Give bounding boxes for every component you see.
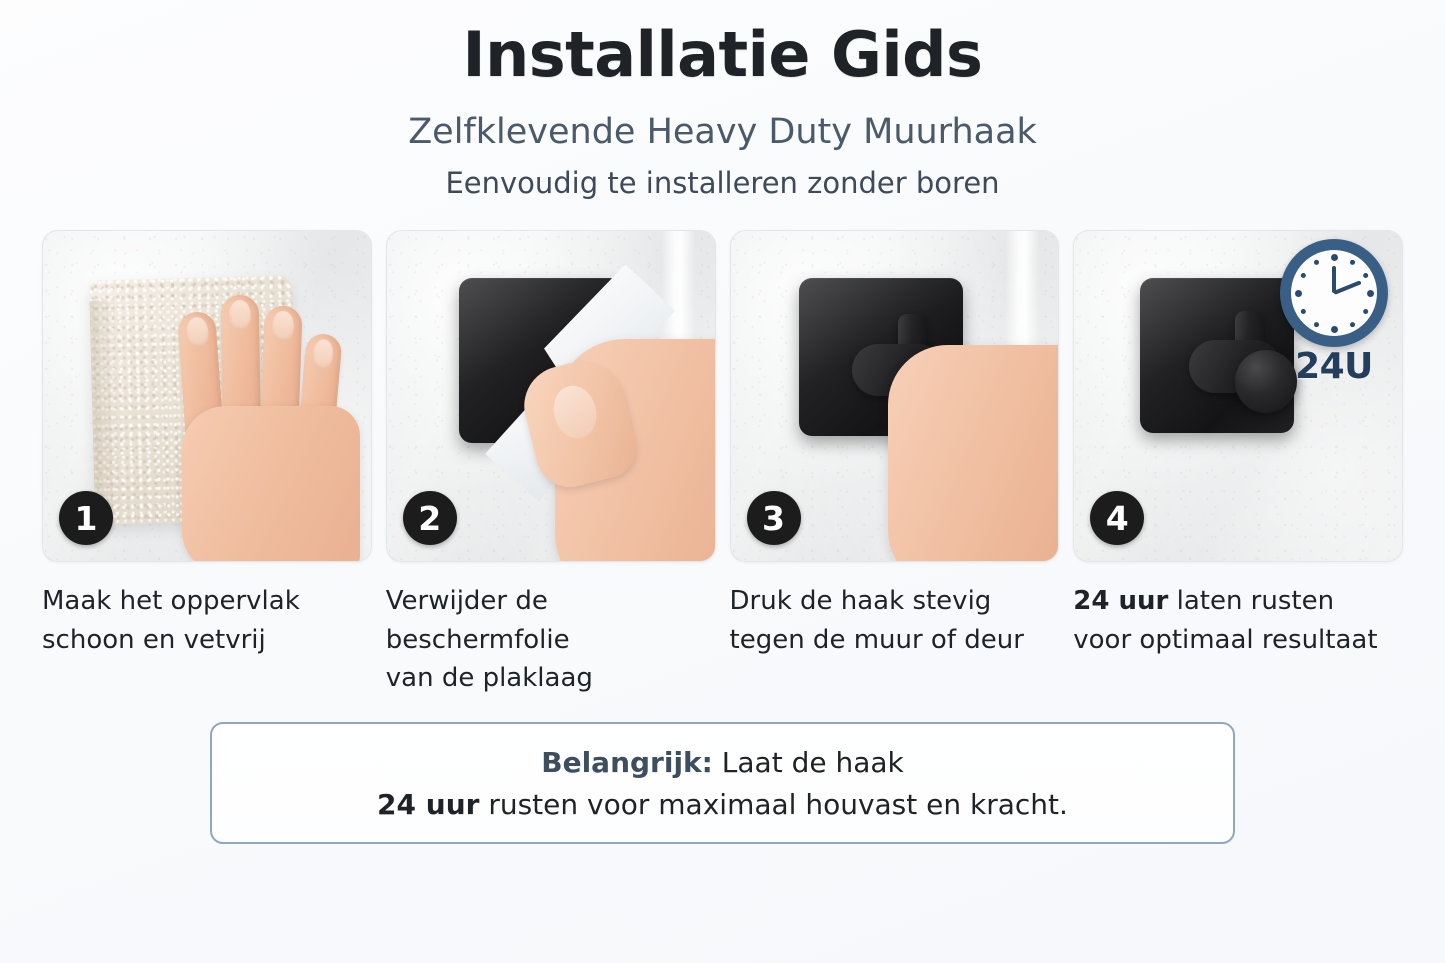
clock-minute-hand [1333,281,1361,296]
step-4: 24U 4 24 uur laten rusten voor optimaal … [1073,230,1403,659]
step-3-photo: 3 [730,230,1060,562]
page-header: Installatie Gids Zelfklevende Heavy Duty… [0,0,1445,200]
step-4-photo: 24U 4 [1073,230,1403,562]
clock-icon [1280,239,1388,347]
thumbnail [548,381,601,443]
note-duration: 24 uur [377,788,479,821]
hand-peeling-film [524,284,715,562]
fingernail [229,300,251,330]
page-subtitle: Zelfklevende Heavy Duty Muurhaak [0,113,1445,152]
steps-grid: 1 Maak het oppervlak schoon en vetvrij 2… [0,230,1445,697]
step-1: 1 Maak het oppervlak schoon en vetvrij [42,230,372,659]
note-line-2: 24 uur rusten voor maximaal houvast en k… [377,787,1068,822]
fingernail [271,311,293,342]
clock-face [1291,250,1377,336]
step-1-photo: 1 [42,230,372,562]
clock-badge: 24U [1272,239,1396,385]
note-label: Belangrijk: [541,746,713,779]
step-2-photo: 2 [386,230,716,562]
caption-line: Verwijder de [386,582,710,620]
hand-pressing-hook [868,264,1059,562]
caption-rest: laten rusten [1168,586,1334,616]
palm [888,345,1059,562]
caption-line: Druk de haak stevig [730,582,1054,620]
step-3: 3 Druk de haak stevig tegen de muur of d… [730,230,1060,659]
hand-wiping [174,284,364,561]
step-number-badge: 2 [403,491,457,545]
important-note-box: Belangrijk: Laat de haak 24 uur rusten v… [210,722,1235,844]
caption-line: tegen de muur of deur [730,621,1054,659]
caption-emphasis: 24 uur [1073,586,1168,616]
note-text: rusten voor maximaal houvast en kracht. [479,788,1068,821]
note-line-1: Belangrijk: Laat de haak [541,745,904,780]
caption-line: voor optimaal resultaat [1073,621,1397,659]
step-number-badge: 1 [59,491,113,545]
step-4-caption: 24 uur laten rusten voor optimaal result… [1073,582,1403,659]
clock-badge-label: 24U [1272,349,1396,385]
step-1-caption: Maak het oppervlak schoon en vetvrij [42,582,372,659]
step-2: 2 Verwijder de beschermfolie van de plak… [386,230,716,697]
step-3-caption: Druk de haak stevig tegen de muur of deu… [730,582,1060,659]
fingernail [312,338,335,370]
step-number-badge: 3 [747,491,801,545]
note-text: Laat de haak [713,746,904,779]
caption-line: beschermfolie [386,621,710,659]
caption-line: 24 uur laten rusten [1073,582,1397,620]
palm [182,406,361,562]
caption-line: schoon en vetvrij [42,621,366,659]
step-2-caption: Verwijder de beschermfolie van de plakla… [386,582,716,697]
caption-line: Maak het oppervlak [42,582,366,620]
page-tagline: Eenvoudig te installeren zonder boren [0,168,1445,200]
fingernail [185,316,208,347]
page-title: Installatie Gids [0,22,1445,89]
caption-line: van de plaklaag [386,659,710,697]
